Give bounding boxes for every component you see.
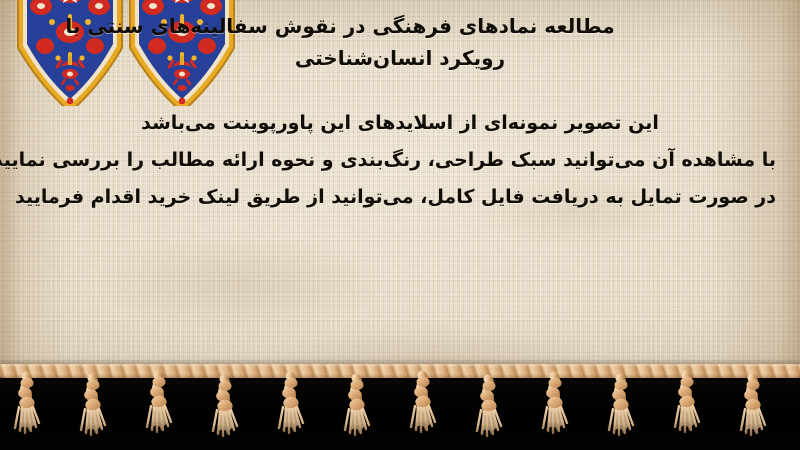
global-grain-overlay [0,0,800,450]
slide-canvas: مطالعه نمادهای فرهنگی در نقوش سفالینه‌ها… [0,0,800,450]
